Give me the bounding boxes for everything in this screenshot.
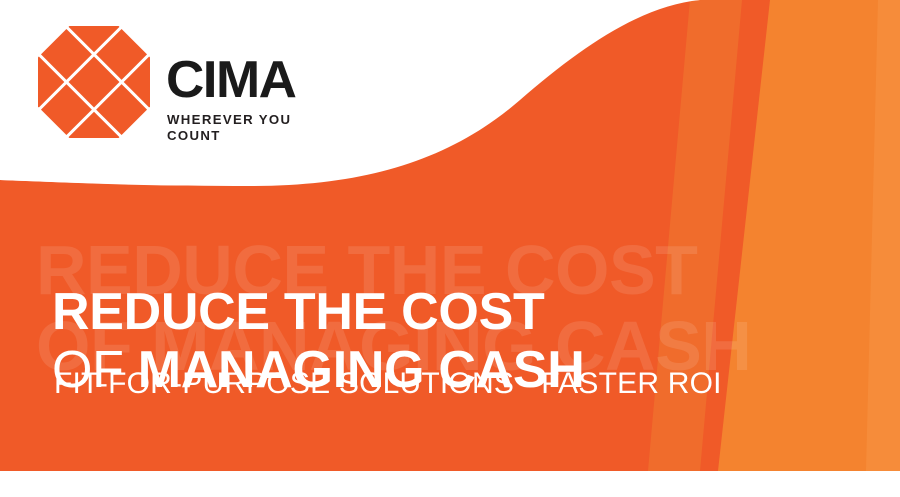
headline-line1: REDUCE THE COST (52, 283, 544, 341)
cima-logo-text: CIMA WHEREVER YOU COUNT (166, 54, 346, 144)
cima-marketing-banner: REDUCE THE COST OF MANAGING CASH REDUCE … (0, 0, 900, 497)
cima-wordmark: CIMA (166, 54, 350, 106)
cima-diamond-mark-icon (38, 26, 150, 138)
subtitle: FIT-FOR-PURPOSE SOLUTIONS - FASTER ROI (54, 366, 722, 402)
cima-logo[interactable]: CIMA WHEREVER YOU COUNT (38, 26, 338, 146)
cima-tagline: WHEREVER YOU COUNT (167, 112, 346, 144)
